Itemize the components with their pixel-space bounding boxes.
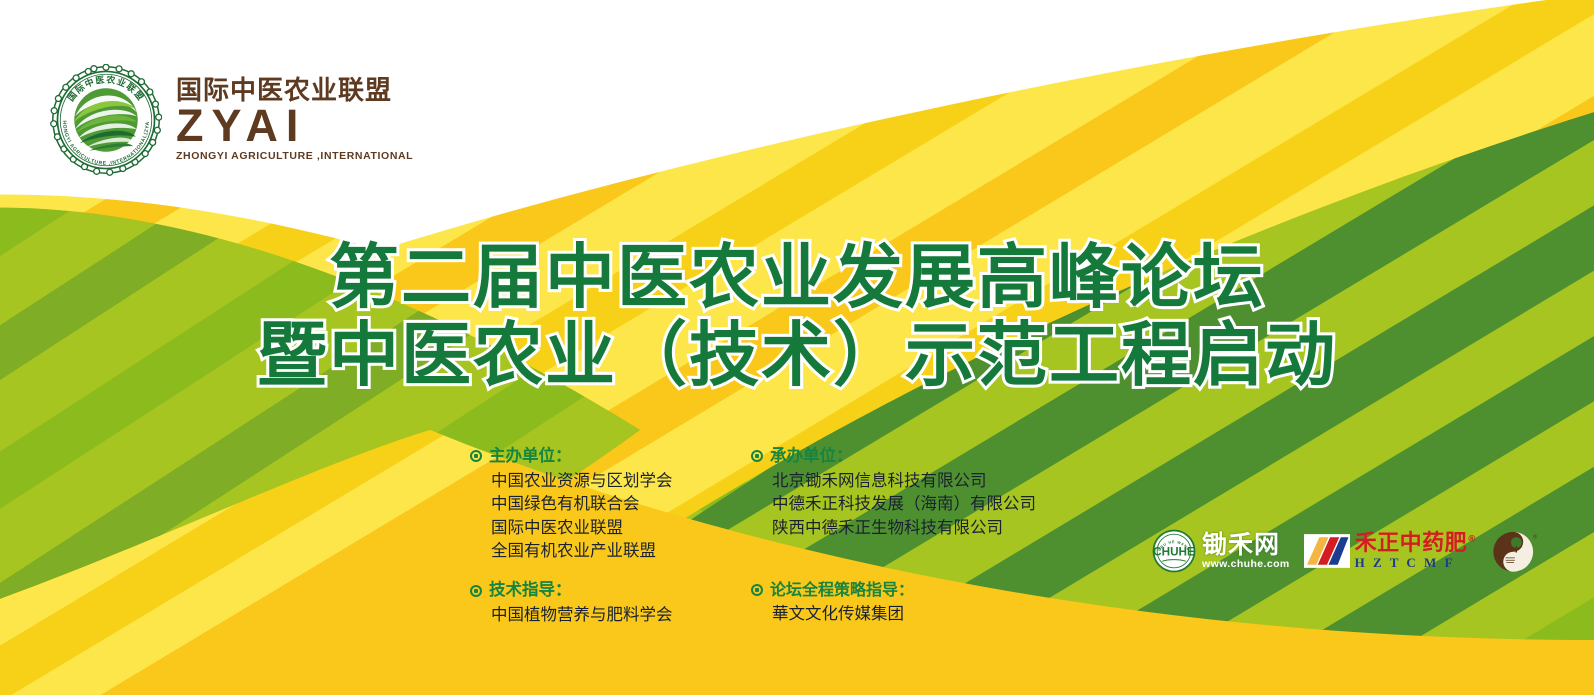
credit-item: 中国绿色有机联合会	[491, 492, 735, 515]
zyai-acronym: ZYAI	[176, 105, 413, 148]
credit-item: 中德禾正科技发展（海南）有限公司	[772, 492, 1016, 515]
zyai-seal-icon: 国际中医农业联盟 ZHONGYI AGRICULTURE ,INTERNATIO…	[50, 64, 162, 176]
hztcmf-wordmark: 禾正中药肥® H Z T C M F	[1355, 533, 1477, 569]
sponsor-logos: CHU HE WANG CHUHE 锄禾网 www.chuhe.com 禾正中药…	[1152, 528, 1537, 574]
credit-group-host: 承办单位： 北京锄禾网信息科技有限公司 中德禾正科技发展（海南）有限公司 陕西中…	[751, 444, 1016, 562]
chuhe-name-cn: 锄禾网	[1202, 532, 1290, 557]
zyai-name-en: ZHONGYI AGRICULTURE ,INTERNATIONAL	[176, 151, 413, 162]
event-banner: 国际中医农业联盟 ZHONGYI AGRICULTURE ,INTERNATIO…	[0, 0, 1594, 695]
credit-item: 北京锄禾网信息科技有限公司	[772, 469, 1016, 492]
credit-item: 華文文化传媒集团	[772, 602, 1016, 625]
hztcmf-mark-icon	[1304, 534, 1350, 568]
bullet-icon	[470, 585, 482, 597]
zyai-wordmark: 国际中医农业联盟 ZYAI ZHONGYI AGRICULTURE ,INTER…	[176, 78, 413, 161]
credits-column-left: 主办单位： 中国农业资源与区划学会 中国绿色有机联合会 国际中医农业联盟 全国有…	[470, 444, 735, 627]
sponsor-hztcmf: 禾正中药肥® H Z T C M F	[1304, 533, 1477, 569]
credits-column-right: 承办单位： 北京锄禾网信息科技有限公司 中德禾正科技发展（海南）有限公司 陕西中…	[751, 444, 1016, 627]
credit-group-organizer: 主办单位： 中国农业资源与区划学会 中国绿色有机联合会 国际中医农业联盟 全国有…	[470, 444, 735, 562]
sponsor-chuhe: CHU HE WANG CHUHE 锄禾网 www.chuhe.com	[1152, 529, 1290, 573]
bullet-icon	[751, 450, 763, 462]
hztcmf-name-cn-text: 禾正中药肥	[1355, 531, 1468, 556]
chuhe-url: www.chuhe.com	[1202, 559, 1290, 570]
credit-heading-label: 承办单位：	[770, 444, 853, 469]
hztcmf-name-cn: 禾正中药肥®	[1355, 533, 1477, 555]
hztcmf-acronym: H Z T C M F	[1355, 556, 1477, 569]
sponsor-tree-root-seal: ®	[1491, 528, 1537, 574]
bullet-icon	[470, 450, 482, 462]
credit-heading: 主办单位：	[470, 444, 735, 469]
credit-item: 国际中医农业联盟	[491, 516, 735, 539]
credits-block: 主办单位： 中国农业资源与区划学会 中国绿色有机联合会 国际中医农业联盟 全国有…	[470, 444, 1016, 627]
credit-item: 中国农业资源与区划学会	[491, 469, 735, 492]
chuhe-wordmark: 锄禾网 www.chuhe.com	[1202, 532, 1290, 570]
credit-item: 陕西中德禾正生物科技有限公司	[772, 516, 1016, 539]
seal3-registered-icon: ®	[1533, 534, 1537, 541]
zyai-logo-lockup: 国际中医农业联盟 ZHONGYI AGRICULTURE ,INTERNATIO…	[50, 64, 413, 176]
credit-group-technical-guidance: 技术指导： 中国植物营养与肥料学会	[470, 578, 735, 626]
credit-item: 全国有机农业产业联盟	[491, 539, 735, 562]
credit-heading-label: 论坛全程策略指导：	[770, 578, 914, 602]
chuhe-seal-label: CHUHE	[1153, 545, 1195, 558]
credit-heading: 承办单位：	[751, 444, 1016, 469]
credit-group-strategy: 论坛全程策略指导： 華文文化传媒集团	[751, 578, 1016, 625]
tree-root-seal-icon: ®	[1491, 528, 1537, 574]
credit-heading-label: 技术指导：	[489, 578, 572, 603]
credit-heading: 论坛全程策略指导：	[751, 578, 1016, 602]
credit-item: 中国植物营养与肥料学会	[491, 603, 735, 626]
chuhe-seal-icon: CHU HE WANG CHUHE	[1152, 529, 1196, 573]
credit-heading-label: 主办单位：	[489, 444, 572, 469]
registered-icon: ®	[1467, 535, 1477, 545]
credit-heading: 技术指导：	[470, 578, 735, 603]
bullet-icon	[751, 584, 763, 596]
